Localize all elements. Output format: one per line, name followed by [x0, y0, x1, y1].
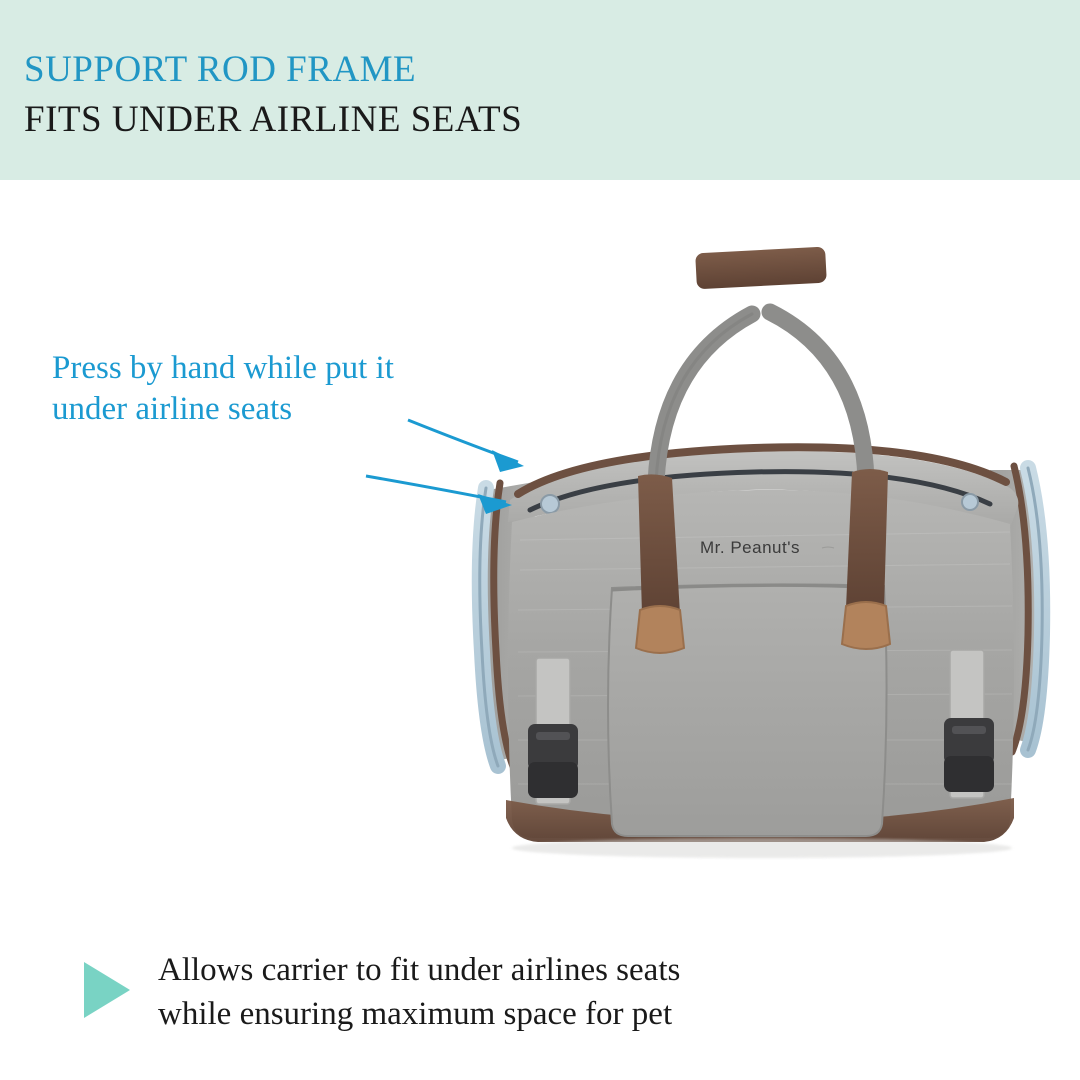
leather-tab-left	[636, 606, 684, 653]
zipper-pull-left	[541, 495, 559, 513]
strap-buckle-left	[528, 658, 578, 804]
callout-text: Press by hand while put it under airline…	[52, 348, 394, 430]
handle-grip-wrap	[695, 247, 827, 290]
triangle-bullet-icon	[84, 962, 130, 1018]
bottom-caption-text: Allows carrier to fit under airlines sea…	[158, 948, 680, 1036]
header-title-primary: SUPPORT ROD FRAME	[24, 48, 416, 91]
brand-name-text: Mr. Peanut's	[700, 538, 800, 558]
zipper-pull-right	[962, 494, 978, 510]
bag-shadow	[512, 838, 1012, 858]
header-title-secondary: FITS UNDER AIRLINE SEATS	[24, 98, 522, 141]
leather-tab-right	[842, 602, 890, 649]
